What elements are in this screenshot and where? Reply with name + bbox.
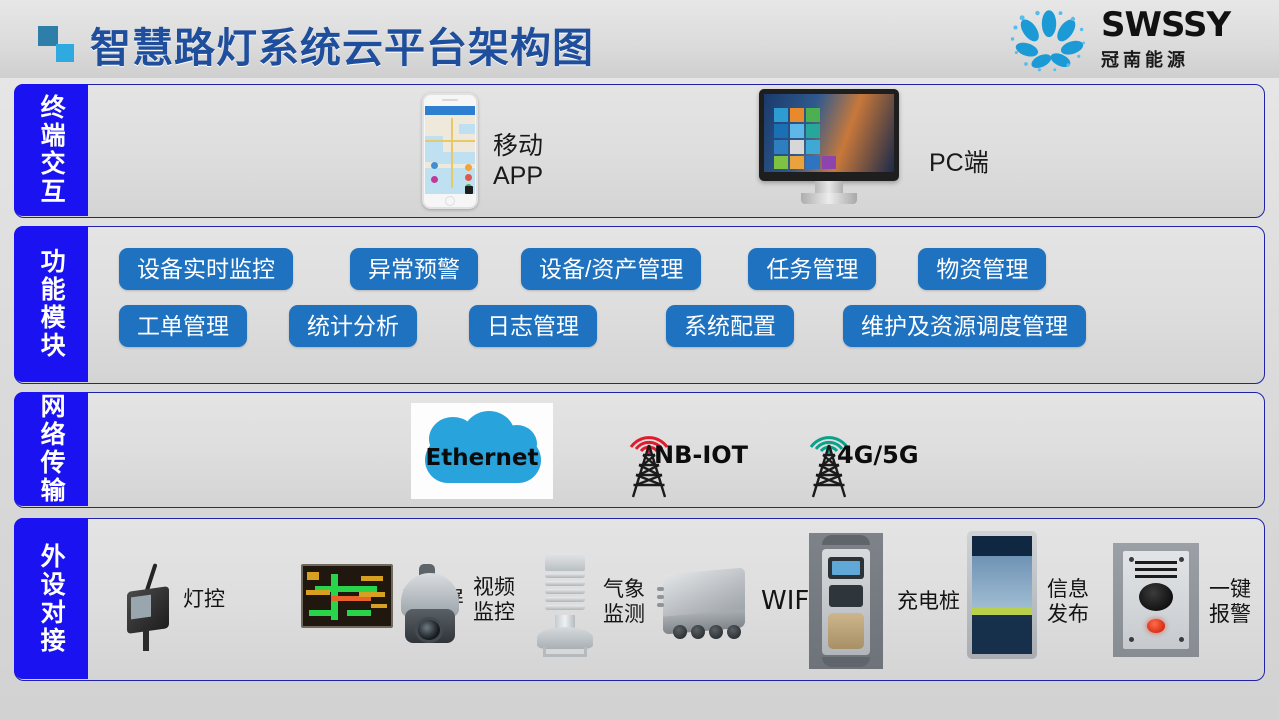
screen-text (306, 590, 330, 595)
desktop-tile (790, 108, 804, 122)
module-button-statistics[interactable]: 统计分析 (289, 305, 417, 347)
box-side-tab (657, 595, 664, 599)
cable-port (709, 625, 723, 639)
smartphone-map-icon[interactable] (422, 93, 478, 209)
terminal-label-mobile-app: 移动 APP (493, 131, 543, 191)
device-label-info-release: 信息 发布 (1047, 577, 1089, 627)
network-label-ethernet: Ethernet (411, 445, 553, 471)
station-fin (545, 573, 585, 578)
layer-tab-label: 功能模块 (38, 248, 64, 360)
pile-screen (828, 557, 864, 579)
rfid-reader-icon (829, 585, 863, 607)
screen-text (307, 572, 319, 580)
desktop-tile (806, 156, 820, 169)
map-road (451, 118, 453, 188)
mount-pole (143, 625, 149, 651)
layer-tab-terminal: 终端交互 (14, 84, 88, 216)
screen-text (359, 592, 385, 597)
device-label-weather: 气象 监测 (603, 577, 645, 627)
station-fin (545, 581, 585, 586)
map-pin (465, 164, 472, 171)
device-light-controller[interactable]: 灯控 (103, 519, 263, 682)
emergency-alarm-icon (1113, 543, 1199, 657)
phone-home-button[interactable] (445, 196, 455, 206)
desktop-tile (790, 156, 804, 169)
module-button-material-management[interactable]: 物资管理 (918, 248, 1046, 290)
layer-body-terminal: 移动 APP (89, 85, 1264, 217)
screw (1129, 637, 1134, 642)
device-emergency-alarm[interactable]: 一键 报警 (1113, 519, 1279, 682)
module-button-log-management[interactable]: 日志管理 (469, 305, 597, 347)
alarm-led-indicator (1147, 619, 1165, 633)
layer-tab-label: 外设对接 (38, 543, 64, 655)
desktop-tile (790, 124, 804, 138)
display-header-bar (972, 536, 1032, 556)
ptz-camera-icon (395, 561, 467, 651)
station-fin (545, 589, 585, 594)
station-fin (545, 597, 585, 602)
monitor-screen (764, 94, 894, 172)
device-label-one-key-alarm: 一键 报警 (1209, 577, 1251, 627)
display-chart-area (972, 620, 1032, 654)
pile-bottom-arc (822, 657, 870, 667)
desktop-tile (774, 156, 788, 169)
map-pin (465, 174, 472, 181)
light-controller-icon (119, 563, 181, 651)
cable-port (691, 625, 705, 639)
desktop-monitor-icon[interactable] (759, 89, 899, 209)
desktop-tile (774, 124, 788, 138)
desktop-tile (806, 140, 820, 154)
layer-body-network: Ethernet (89, 393, 1264, 507)
layer-tab-label: 网络传输 (38, 393, 64, 505)
alarm-button[interactable] (1139, 583, 1173, 611)
page-header: 智慧路灯系统云平台架构图 (0, 0, 1279, 78)
terminal-label-pc: PC端 (929, 143, 989, 179)
device-label-video-monitor: 视频 监控 (473, 575, 515, 625)
cable-port (673, 625, 687, 639)
water-droplet-petals-logo-icon (1001, 6, 1097, 74)
layer-peripheral-devices: 外设对接 灯控 (14, 518, 1265, 681)
cable-port (727, 625, 741, 639)
device-label-line1: 充电桩 (897, 589, 960, 614)
screen-route (347, 610, 371, 616)
screen-route (309, 610, 331, 616)
module-button-asset-management[interactable]: 设备/资产管理 (521, 248, 701, 290)
terminal-label-line2: APP (493, 161, 543, 191)
screen-text (371, 604, 387, 608)
station-funnel (537, 627, 593, 649)
guidance-screen-icon (301, 564, 393, 628)
screw (1129, 557, 1134, 562)
box-side-tab (657, 603, 664, 607)
info-display-icon (967, 531, 1037, 659)
map-pin (431, 176, 438, 183)
desktop-tile (790, 140, 804, 154)
desktop-tile (774, 140, 788, 154)
map-pin (465, 186, 473, 194)
device-label-light-control: 灯控 (183, 587, 225, 612)
device-label-line2: 报警 (1209, 602, 1251, 627)
charging-gun-holder (828, 613, 864, 649)
screw (1179, 637, 1184, 642)
box-side-tab (657, 587, 664, 591)
network-label-4g5g: 4G/5G (837, 441, 919, 469)
station-fin (545, 605, 585, 610)
station-cap (545, 553, 585, 571)
controller-panel (131, 595, 151, 620)
desktop-tile (806, 124, 820, 138)
desktop-tile (806, 108, 820, 122)
wifi-box-icon (657, 571, 749, 647)
module-button-maintenance-dispatch[interactable]: 维护及资源调度管理 (843, 305, 1086, 347)
screen-route (331, 606, 338, 620)
camera-lens (415, 617, 443, 643)
square-cyan-icon (56, 44, 74, 62)
brand-name: SWSSY (1101, 8, 1230, 42)
square-dark-icon (38, 26, 58, 46)
map-water (435, 152, 475, 164)
pile-top-arc (822, 535, 870, 545)
device-label-line1: 灯控 (183, 587, 225, 612)
speaker-grill (1135, 561, 1177, 564)
layer-body-device: 灯控 (89, 519, 1264, 680)
station-legs (543, 647, 587, 657)
layer-tab-device: 外设对接 (14, 518, 88, 679)
device-info-display[interactable]: 信息 发布 (967, 519, 1137, 682)
module-button-system-config[interactable]: 系统配置 (666, 305, 794, 347)
page-title: 智慧路灯系统云平台架构图 (90, 14, 594, 74)
module-button-device-monitor[interactable]: 设备实时监控 (119, 248, 293, 290)
module-button-task-management[interactable]: 任务管理 (748, 248, 876, 290)
device-label-line1: 信息 (1047, 577, 1089, 602)
brand-text: SWSSY 冠南能源 (1101, 8, 1230, 72)
module-button-abnormal-alert[interactable]: 异常预警 (350, 248, 478, 290)
speaker-grill (1135, 575, 1177, 578)
layer-tab-label: 终端交互 (38, 94, 64, 206)
decorative-squares-icon (38, 26, 80, 62)
device-label-line1: 一键 (1209, 577, 1251, 602)
display-weather-image (972, 556, 1032, 608)
layer-network-transmission: 网络传输 Ethernet (14, 392, 1265, 508)
display-ticker-band (972, 608, 1032, 615)
architecture-diagram-page: 智慧路灯系统云平台架构图 (0, 0, 1279, 720)
desktop-tile (822, 156, 836, 169)
device-label-line1: 视频 (473, 575, 515, 600)
device-label-charging-pile: 充电桩 (897, 589, 960, 614)
device-label-line2: 监控 (473, 600, 515, 625)
charging-pile-icon (809, 533, 883, 669)
brand-subtitle: 冠南能源 (1101, 46, 1230, 72)
monitor-stand-base (801, 193, 857, 204)
screen-text (361, 576, 383, 581)
device-charging-pile[interactable]: 充电桩 (809, 519, 989, 682)
function-module-row: 设备实时监控 异常预警 设备/资产管理 任务管理 物资管理 (89, 248, 1264, 290)
device-label-line2: 监测 (603, 602, 645, 627)
layer-body-function: 设备实时监控 异常预警 设备/资产管理 任务管理 物资管理 工单管理 统计分析 … (89, 227, 1264, 383)
display-screen (972, 536, 1032, 654)
network-label-nbiot: NB-IOT (654, 441, 748, 469)
phone-speaker (442, 99, 458, 101)
map-water (459, 124, 475, 134)
terminal-label-line1: 移动 (493, 131, 543, 161)
brand-logo: SWSSY 冠南能源 (1001, 4, 1269, 76)
desktop-tile (774, 108, 788, 122)
layer-tab-function: 功能模块 (14, 226, 88, 382)
map-road (425, 140, 475, 142)
layer-terminal-interaction: 终端交互 (14, 84, 1265, 218)
speaker-grill (1135, 568, 1177, 571)
device-label-line1: 气象 (603, 577, 645, 602)
weather-station-icon (533, 553, 597, 657)
module-button-work-order[interactable]: 工单管理 (119, 305, 247, 347)
screw (1179, 557, 1184, 562)
layer-function-modules: 功能模块 设备实时监控 异常预警 设备/资产管理 任务管理 物资管理 工单管理 … (14, 226, 1265, 384)
phone-screen (425, 106, 475, 194)
map-app-bar (425, 106, 475, 115)
layer-tab-network: 网络传输 (14, 392, 88, 506)
device-label-line2: 发布 (1047, 602, 1089, 627)
map-pin (431, 162, 438, 169)
function-module-row: 工单管理 统计分析 日志管理 系统配置 维护及资源调度管理 (89, 305, 1264, 347)
